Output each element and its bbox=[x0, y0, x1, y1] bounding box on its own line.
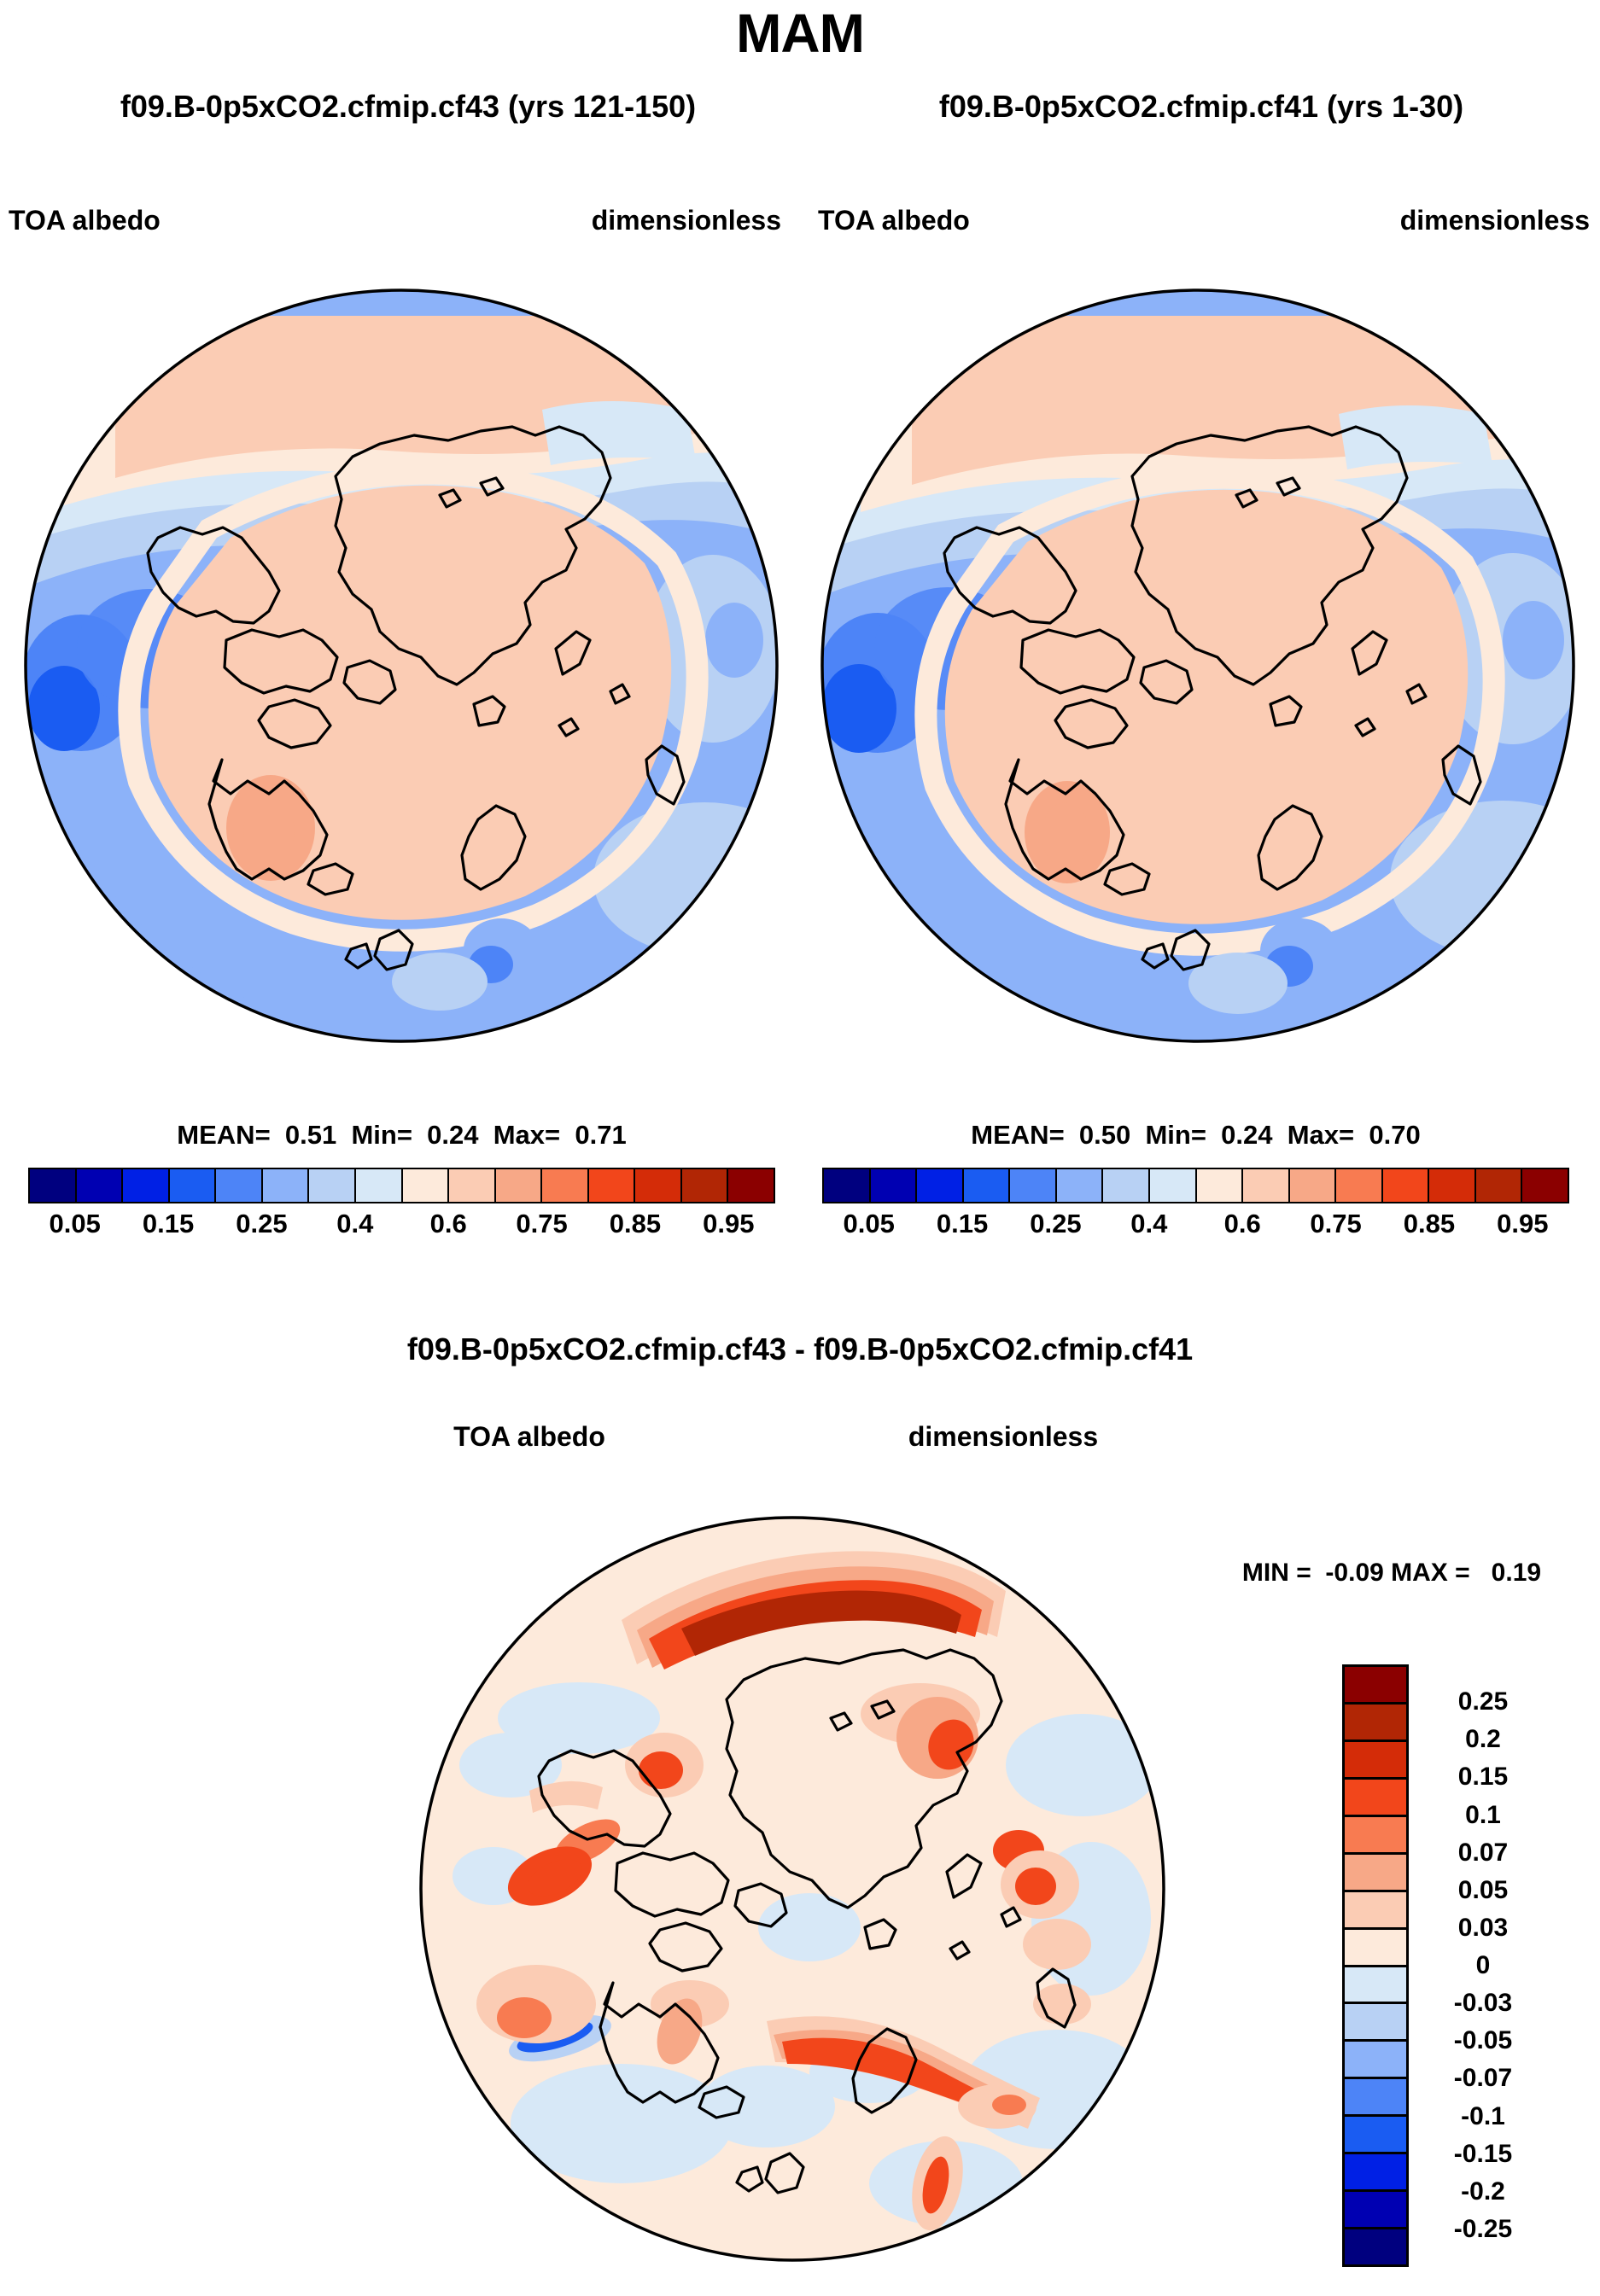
colorbar-tick-label: 0.6 bbox=[430, 1209, 467, 1239]
colorbar-cell bbox=[1345, 1705, 1406, 1742]
colorbar-cell bbox=[216, 1169, 263, 1202]
colorbar-cell bbox=[728, 1169, 774, 1202]
colorbar-cell bbox=[1103, 1169, 1150, 1202]
colorbar-tick-label: -0.25 bbox=[1419, 2215, 1547, 2244]
variable-label-left: TOA albedo bbox=[9, 205, 161, 236]
colorbar-cell bbox=[1345, 1930, 1406, 1967]
colorbar-tick-label: 0.03 bbox=[1419, 1914, 1547, 1943]
colorbar-right: 0.050.150.250.40.60.750.850.95 bbox=[822, 1168, 1569, 1244]
colorbar-tick-label: -0.05 bbox=[1419, 2026, 1547, 2055]
colorbar-left-swatches bbox=[28, 1168, 775, 1203]
variable-label-right: TOA albedo bbox=[818, 205, 970, 236]
colorbar-left: 0.050.150.250.40.60.750.850.95 bbox=[28, 1168, 775, 1244]
colorbar-cell bbox=[1290, 1169, 1337, 1202]
colorbar-cell bbox=[123, 1169, 170, 1202]
colorbar-cell bbox=[403, 1169, 450, 1202]
colorbar-cell bbox=[449, 1169, 496, 1202]
variable-label-difference: TOA albedo bbox=[401, 1421, 657, 1453]
colorbar-tick-label: -0.03 bbox=[1419, 1989, 1547, 2018]
colorbar-tick-label: 0.15 bbox=[1419, 1763, 1547, 1792]
colorbar-cell bbox=[1345, 2229, 1406, 2264]
colorbar-cell bbox=[1336, 1169, 1383, 1202]
season-title: MAM bbox=[0, 2, 1600, 65]
colorbar-tick-label: 0.07 bbox=[1419, 1839, 1547, 1868]
colorbar-difference-labels: 0.250.20.150.10.070.050.030-0.03-0.05-0.… bbox=[1419, 1664, 1590, 2267]
colorbar-cell bbox=[1243, 1169, 1290, 1202]
colorbar-left-labels: 0.050.150.250.40.60.750.850.95 bbox=[28, 1203, 775, 1244]
units-label-right: dimensionless bbox=[1110, 205, 1590, 236]
colorbar-cell bbox=[1345, 2117, 1406, 2154]
colorbar-cell bbox=[1522, 1169, 1568, 1202]
colorbar-tick-label: 0.2 bbox=[1419, 1725, 1547, 1754]
stats-left: MEAN= 0.51 Min= 0.24 Max= 0.71 bbox=[28, 1120, 775, 1151]
colorbar-tick-label: 0.15 bbox=[143, 1209, 194, 1239]
polar-map-right bbox=[809, 282, 1586, 1050]
colorbar-cell bbox=[1345, 1967, 1406, 2005]
colorbar-cell bbox=[1345, 2192, 1406, 2229]
colorbar-cell bbox=[1476, 1169, 1523, 1202]
colorbar-cell bbox=[871, 1169, 918, 1202]
colorbar-cell bbox=[1345, 1780, 1406, 1817]
colorbar-cell bbox=[1010, 1169, 1057, 1202]
colorbar-cell bbox=[1429, 1169, 1476, 1202]
colorbar-cell bbox=[30, 1169, 77, 1202]
units-label-left: dimensionless bbox=[303, 205, 781, 236]
colorbar-tick-label: 0 bbox=[1419, 1951, 1547, 1980]
colorbar-tick-label: 0.05 bbox=[50, 1209, 101, 1239]
colorbar-cell bbox=[263, 1169, 310, 1202]
colorbar-cell bbox=[1345, 2004, 1406, 2042]
colorbar-cell bbox=[1383, 1169, 1430, 1202]
colorbar-cell bbox=[1345, 1667, 1406, 1705]
difference-minmax: MIN = -0.09 MAX = 0.19 bbox=[1195, 1559, 1588, 1588]
stats-right: MEAN= 0.50 Min= 0.24 Max= 0.70 bbox=[822, 1120, 1569, 1151]
colorbar-tick-label: 0.75 bbox=[1310, 1209, 1361, 1239]
colorbar-cell bbox=[964, 1169, 1011, 1202]
colorbar-cell bbox=[589, 1169, 636, 1202]
colorbar-tick-label: 0.25 bbox=[1030, 1209, 1081, 1239]
colorbar-cell bbox=[1345, 1855, 1406, 1892]
colorbar-cell bbox=[1345, 2154, 1406, 2192]
colorbar-tick-label: 0.05 bbox=[1419, 1876, 1547, 1905]
colorbar-cell bbox=[1057, 1169, 1104, 1202]
colorbar-cell bbox=[170, 1169, 217, 1202]
difference-title: f09.B-0p5xCO2.cfmip.cf43 - f09.B-0p5xCO2… bbox=[0, 1332, 1600, 1367]
colorbar-cell bbox=[917, 1169, 964, 1202]
colorbar-tick-label: 0.25 bbox=[1419, 1687, 1547, 1716]
colorbar-tick-label: 0.6 bbox=[1224, 1209, 1261, 1239]
colorbar-tick-label: -0.07 bbox=[1419, 2064, 1547, 2093]
colorbar-cell bbox=[682, 1169, 729, 1202]
case-label-right: f09.B-0p5xCO2.cfmip.cf41 (yrs 1-30) bbox=[803, 89, 1600, 125]
colorbar-cell bbox=[542, 1169, 589, 1202]
colorbar-tick-label: -0.15 bbox=[1419, 2140, 1547, 2169]
colorbar-cell bbox=[1150, 1169, 1197, 1202]
colorbar-difference-swatches bbox=[1342, 1664, 1409, 2267]
colorbar-tick-label: -0.2 bbox=[1419, 2177, 1547, 2206]
colorbar-tick-label: 0.4 bbox=[336, 1209, 373, 1239]
colorbar-difference bbox=[1342, 1664, 1409, 2267]
colorbar-cell bbox=[496, 1169, 543, 1202]
colorbar-cell bbox=[1345, 1817, 1406, 1855]
colorbar-cell bbox=[1345, 2079, 1406, 2117]
polar-map-left bbox=[13, 282, 790, 1050]
colorbar-right-swatches bbox=[822, 1168, 1569, 1203]
colorbar-tick-label: 0.4 bbox=[1130, 1209, 1167, 1239]
colorbar-cell bbox=[1345, 2042, 1406, 2079]
colorbar-cell bbox=[309, 1169, 356, 1202]
colorbar-cell bbox=[1345, 1892, 1406, 1930]
colorbar-tick-label: 0.85 bbox=[610, 1209, 661, 1239]
polar-map-difference bbox=[408, 1509, 1177, 2269]
colorbar-tick-label: 0.15 bbox=[937, 1209, 988, 1239]
case-label-left: f09.B-0p5xCO2.cfmip.cf43 (yrs 121-150) bbox=[7, 89, 809, 125]
colorbar-cell bbox=[1197, 1169, 1244, 1202]
colorbar-cell bbox=[77, 1169, 124, 1202]
colorbar-tick-label: 0.05 bbox=[844, 1209, 895, 1239]
colorbar-cell bbox=[635, 1169, 682, 1202]
colorbar-tick-label: 0.95 bbox=[1497, 1209, 1548, 1239]
colorbar-cell bbox=[356, 1169, 403, 1202]
colorbar-cell bbox=[824, 1169, 871, 1202]
colorbar-tick-label: -0.1 bbox=[1419, 2102, 1547, 2131]
colorbar-tick-label: 0.85 bbox=[1404, 1209, 1455, 1239]
colorbar-right-labels: 0.050.150.250.40.60.750.850.95 bbox=[822, 1203, 1569, 1244]
colorbar-cell bbox=[1345, 1742, 1406, 1780]
colorbar-tick-label: 0.25 bbox=[236, 1209, 287, 1239]
colorbar-tick-label: 0.1 bbox=[1419, 1801, 1547, 1830]
colorbar-tick-label: 0.95 bbox=[703, 1209, 754, 1239]
colorbar-tick-label: 0.75 bbox=[516, 1209, 567, 1239]
units-label-difference: dimensionless bbox=[862, 1421, 1144, 1453]
